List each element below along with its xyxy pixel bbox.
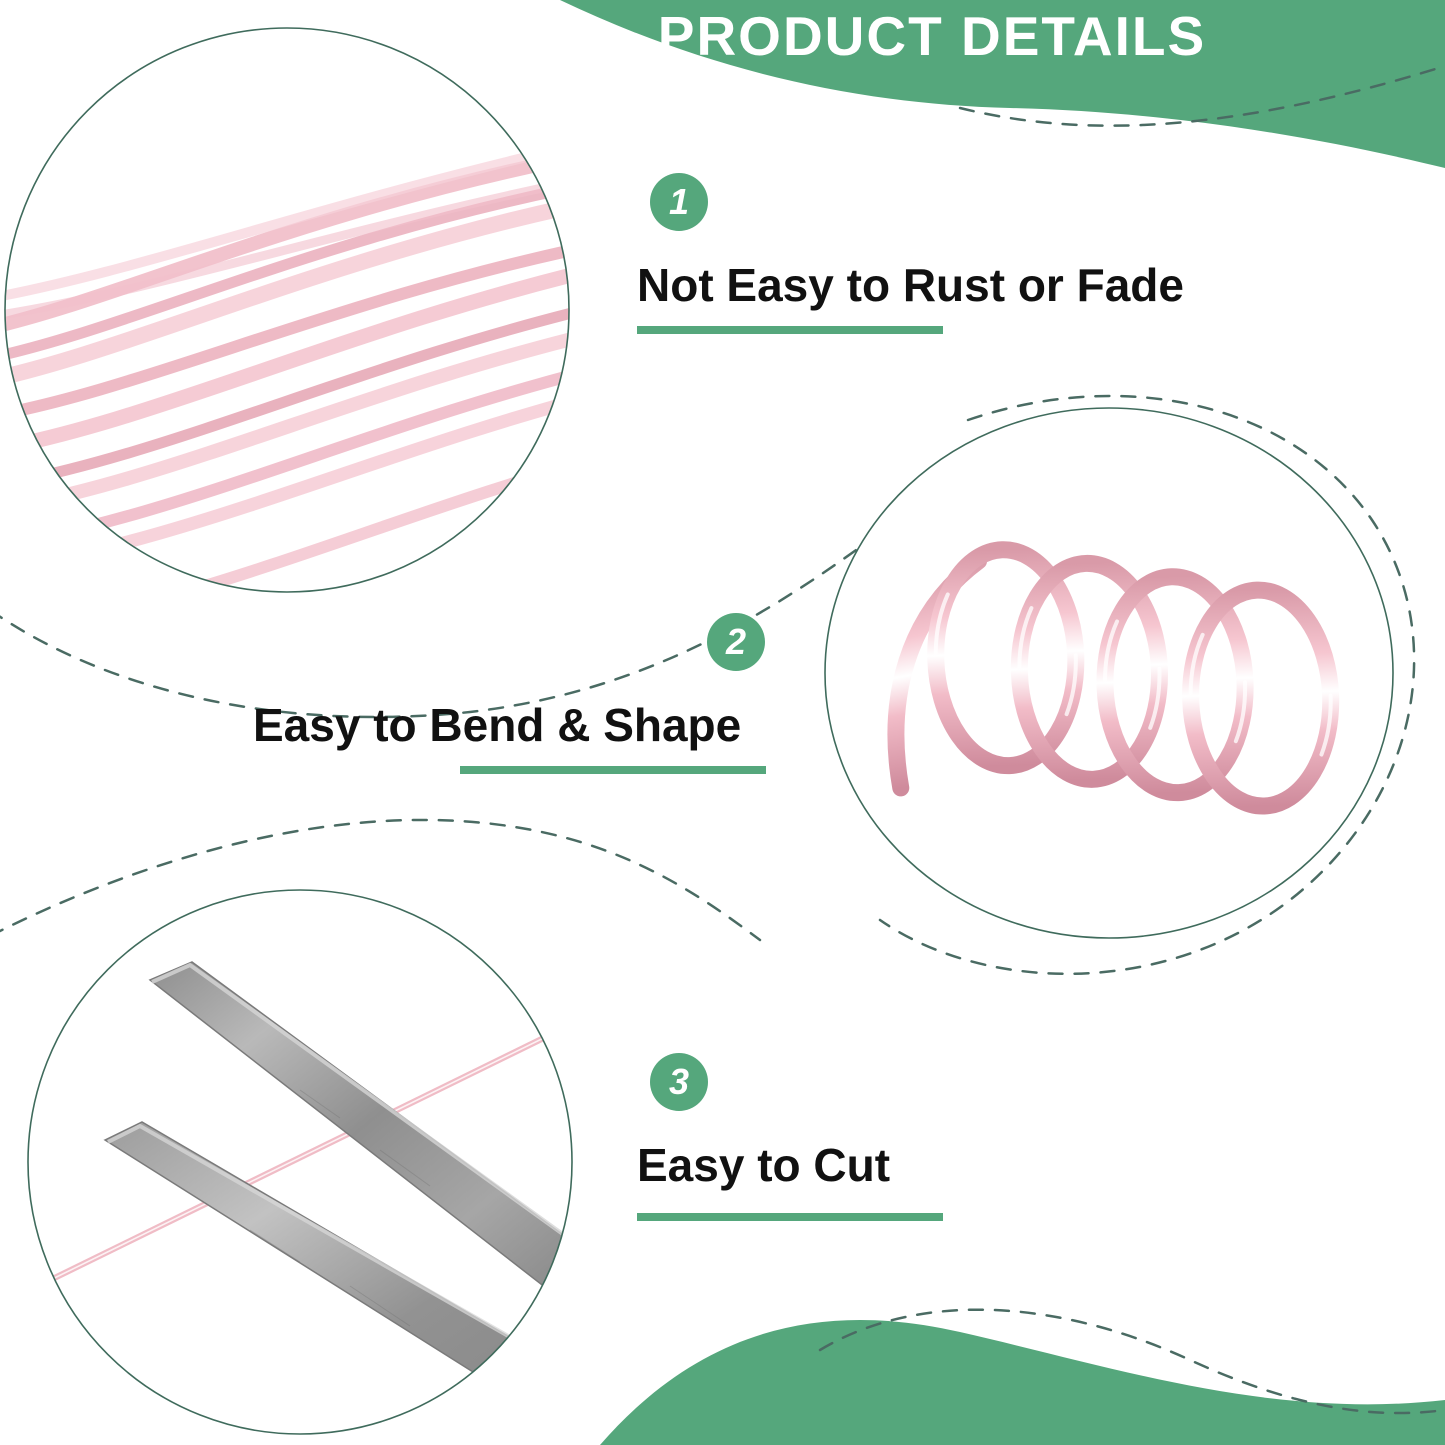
feature-badge-2: 2 [707,613,765,671]
page-title: PRODUCT DETAILS [612,8,1252,66]
photo-2-ring [825,408,1393,938]
feature-title-1: Not Easy to Rust or Fade [637,260,1184,311]
photo-pliers-cutting-wire [28,890,600,1445]
dashed-curve-footer [820,1310,1445,1413]
dashed-curve-lower-left [0,820,760,940]
feature-badge-3: 3 [650,1053,708,1111]
infographic-canvas: PRODUCT DETAILS 1 Not Easy to Rust or Fa… [0,0,1445,1445]
feature-underline-2 [460,766,766,774]
footer-green-wave [600,1320,1445,1445]
photo-coiled-pink-wire-spiral [825,408,1393,938]
photo-3-ring [28,890,572,1434]
feature-underline-3 [637,1213,943,1221]
feature-badge-1: 1 [650,173,708,231]
dashed-curve-top [960,66,1445,126]
feature-underline-1 [637,326,943,334]
photo-pink-wire-strands [0,28,660,690]
dashed-curve-mid-left [0,470,960,717]
feature-title-3: Easy to Cut [637,1140,890,1191]
dashed-curve-around-circle2 [880,396,1414,974]
feature-title-2: Easy to Bend & Shape [253,700,741,751]
photo-1-ring [5,28,569,592]
